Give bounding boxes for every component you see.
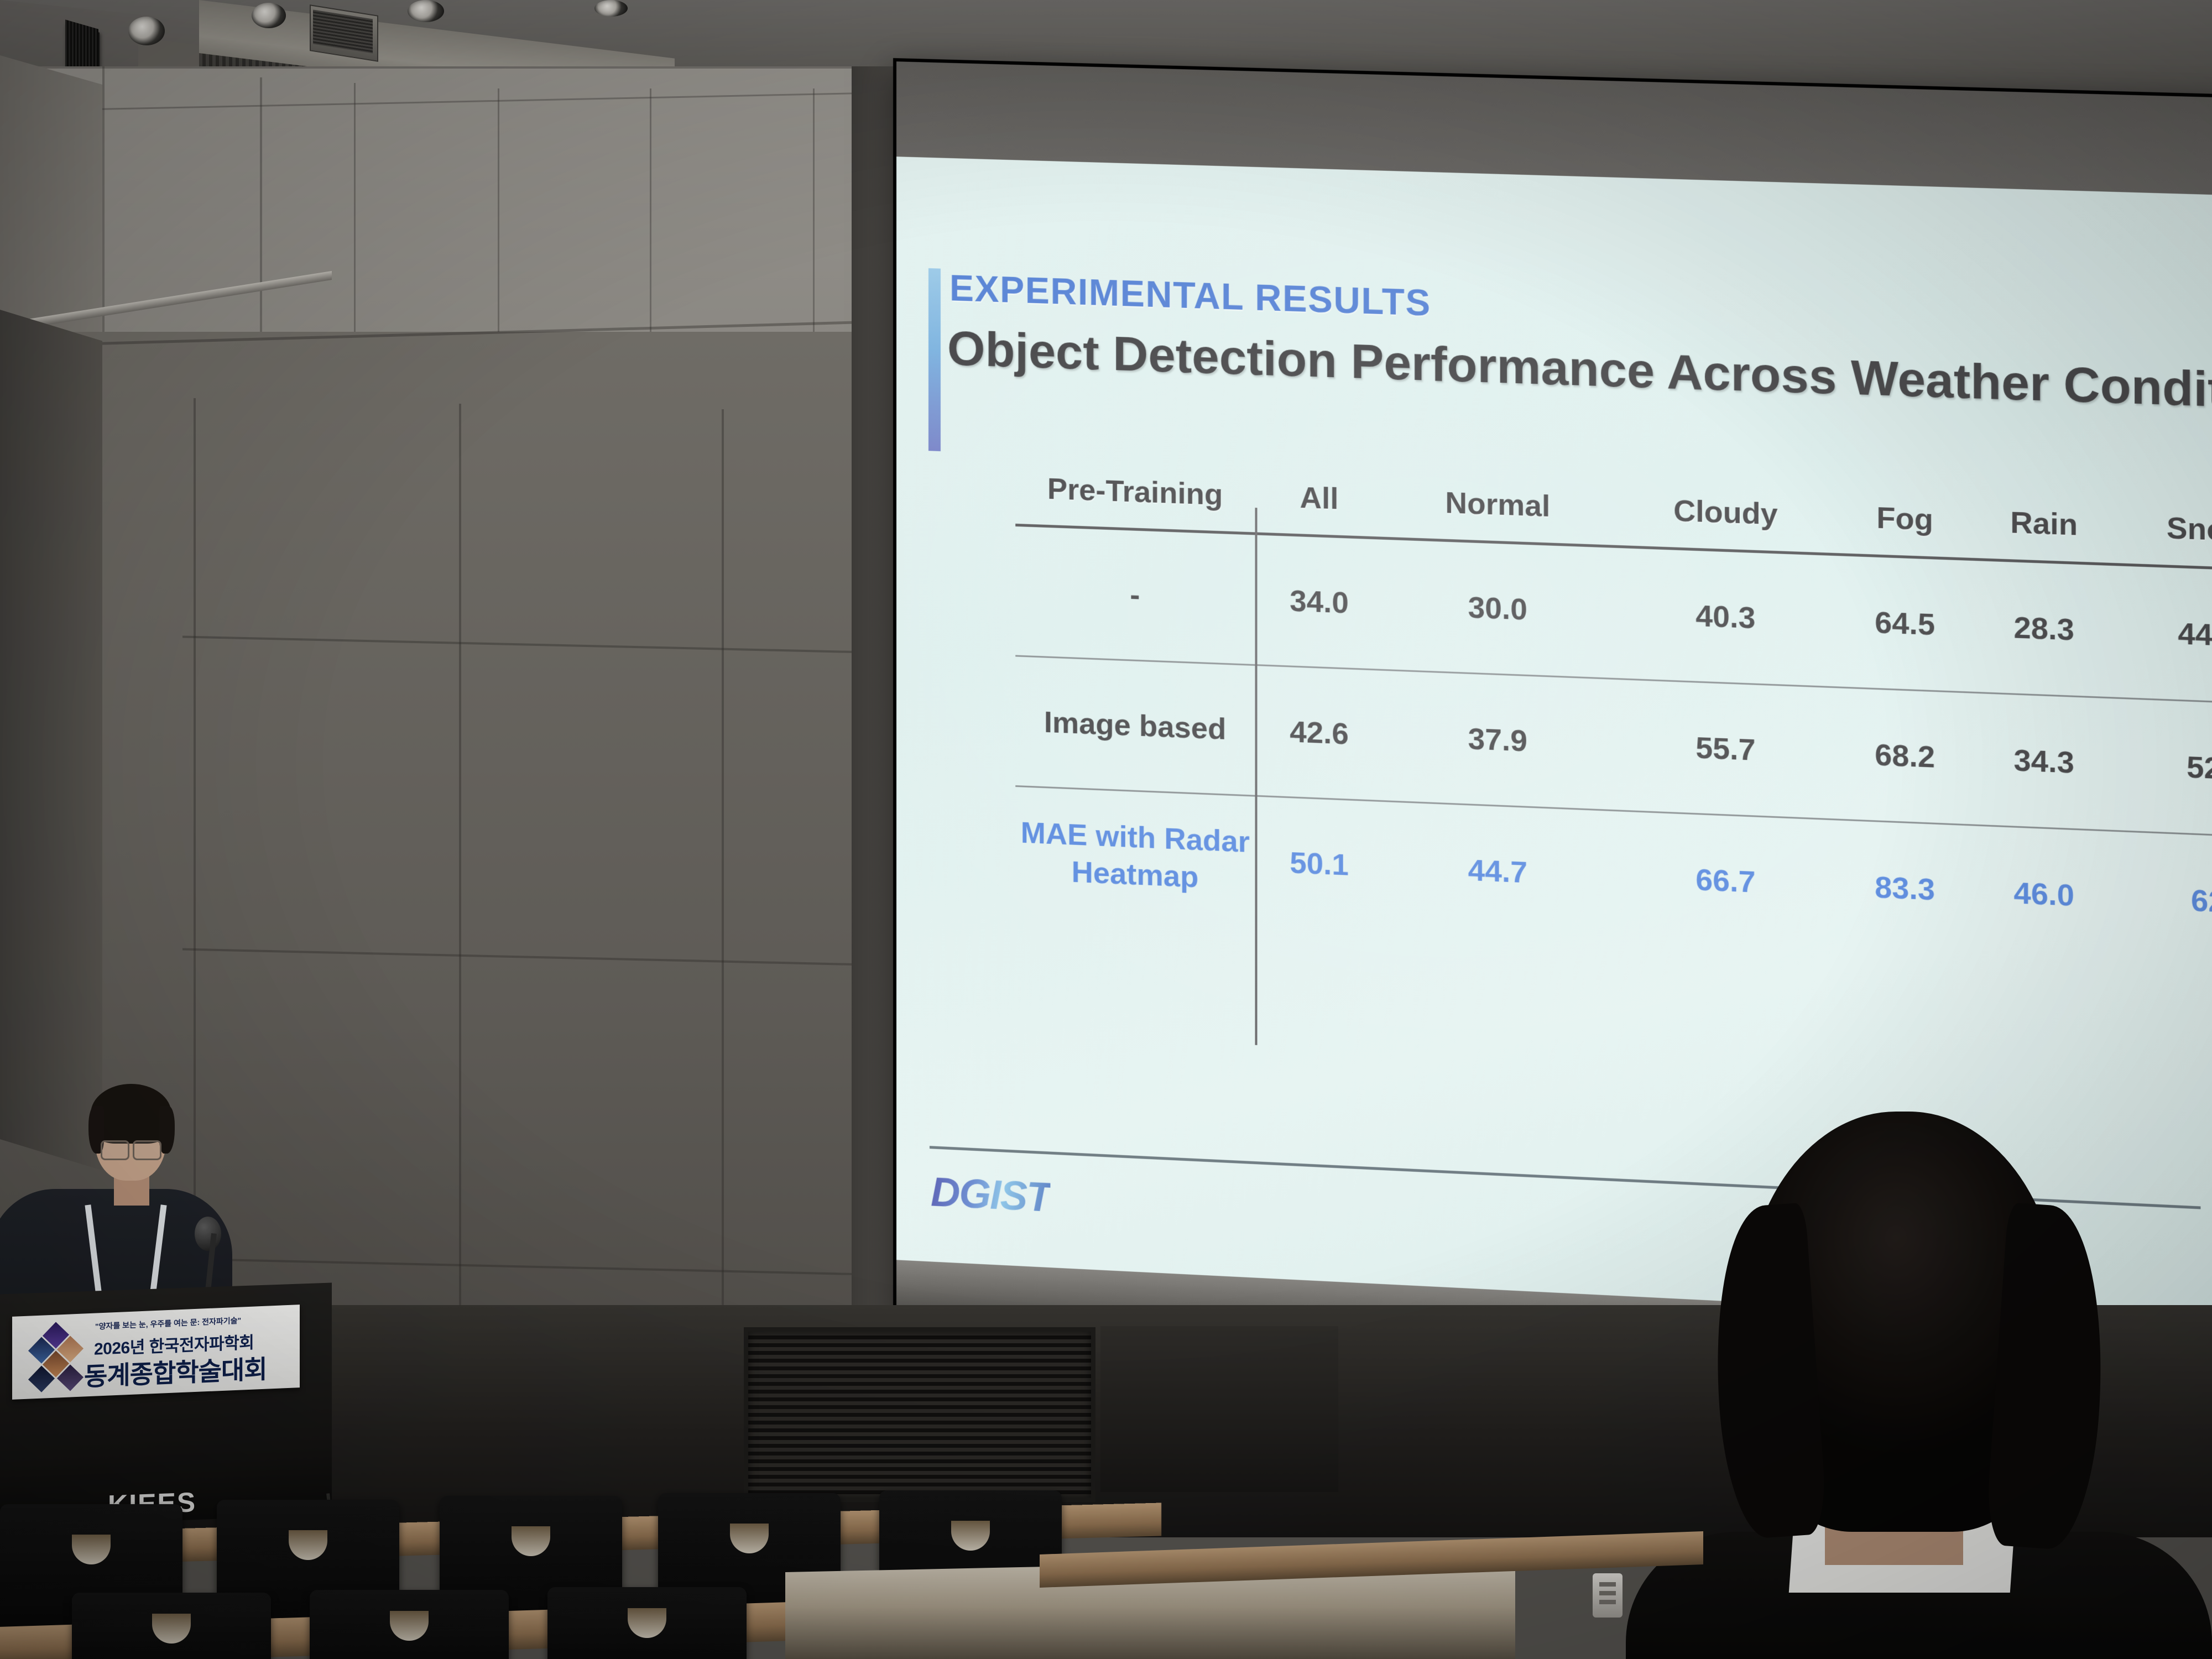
cell-normal: 44.7 [1384,801,1613,942]
dgist-logo: DGIST [931,1168,1051,1221]
chair-handle-cutout [390,1611,429,1641]
cell-snow: 52. [2117,698,2212,838]
results-table: Pre-Training All Normal Cloudy Fog Rain … [1015,471,2212,971]
cell-snow: 44.3 [2117,565,2212,705]
row-label: MAE with Radar Heatmap [1015,786,1255,926]
lecture-chair [310,1590,509,1659]
column-header-rain: Rain [1970,504,2117,565]
ceiling-downlight [594,0,628,17]
cell-fog: 68.2 [1839,687,1970,825]
desk-device [1593,1573,1623,1618]
cell-cloudy: 40.3 [1613,546,1840,687]
results-table-wrap: Pre-Training All Normal Cloudy Fog Rain … [1015,471,2212,971]
slide-section-eyebrow: EXPERIMENTAL RESULTS [950,267,1431,324]
presenter-hair-right [159,1106,175,1154]
chair-handle-cutout [951,1521,990,1551]
wall-dark-panel [1100,1326,1338,1492]
slide-title: Object Detection Performance Across Weat… [947,320,2212,422]
column-header-normal: Normal [1384,483,1613,546]
chair-handle-cutout [152,1614,191,1644]
cell-cloudy: 66.7 [1613,810,1840,951]
chair-handle-cutout [512,1526,550,1556]
column-header-fog: Fog [1839,499,1970,560]
conference-logo [25,1323,86,1387]
cell-fog: 83.3 [1839,820,1970,957]
cell-all: 50.1 [1255,796,1383,931]
cell-cloudy: 55.7 [1613,679,1840,820]
left-wall-lower-return [0,310,102,1171]
wall-air-grille [744,1327,1095,1502]
ceiling-downlight [128,17,165,45]
lecture-chair [72,1593,271,1659]
ceiling-downlight [252,3,286,28]
microphone-head [195,1217,221,1251]
photo-scene: EXPERIMENTAL RESULTS Object Detection Pe… [0,0,2212,1659]
cell-normal: 37.9 [1384,670,1613,810]
cell-rain: 28.3 [1970,559,2117,698]
chair-handle-cutout [730,1524,769,1553]
cell-all: 34.0 [1255,534,1383,670]
podium-sign: "양자를 보는 눈, 우주를 여는 문: 전자파기술" 2026년 한국전자파학… [12,1305,300,1400]
column-header-pretraining: Pre-Training [1015,471,1255,534]
chair-handle-cutout [628,1608,666,1638]
table-vertical-rule [1255,508,1257,1045]
slide-accent-bar [928,268,941,451]
glasses-lens-right [133,1140,161,1160]
cell-all: 42.6 [1255,665,1383,801]
presentation-slide: EXPERIMENTAL RESULTS Object Detection Pe… [896,156,2212,1327]
row-label: - [1015,525,1255,665]
ceiling-downlight [408,0,444,22]
column-header-snow: Snow [2117,509,2212,571]
cell-rain: 46.0 [1970,825,2117,963]
cell-snow: 62 [2117,831,2212,971]
column-header-all: All [1255,479,1383,538]
chair-handle-cutout [72,1535,111,1564]
chair-handle-cutout [289,1530,327,1560]
glasses-lens-left [101,1140,129,1160]
cell-fog: 64.5 [1839,555,1970,692]
row-label: Image based [1015,656,1255,796]
cell-normal: 30.0 [1384,538,1613,679]
lecture-chair [547,1587,747,1659]
column-header-cloudy: Cloudy [1613,491,1840,555]
cell-rain: 34.3 [1970,692,2117,831]
